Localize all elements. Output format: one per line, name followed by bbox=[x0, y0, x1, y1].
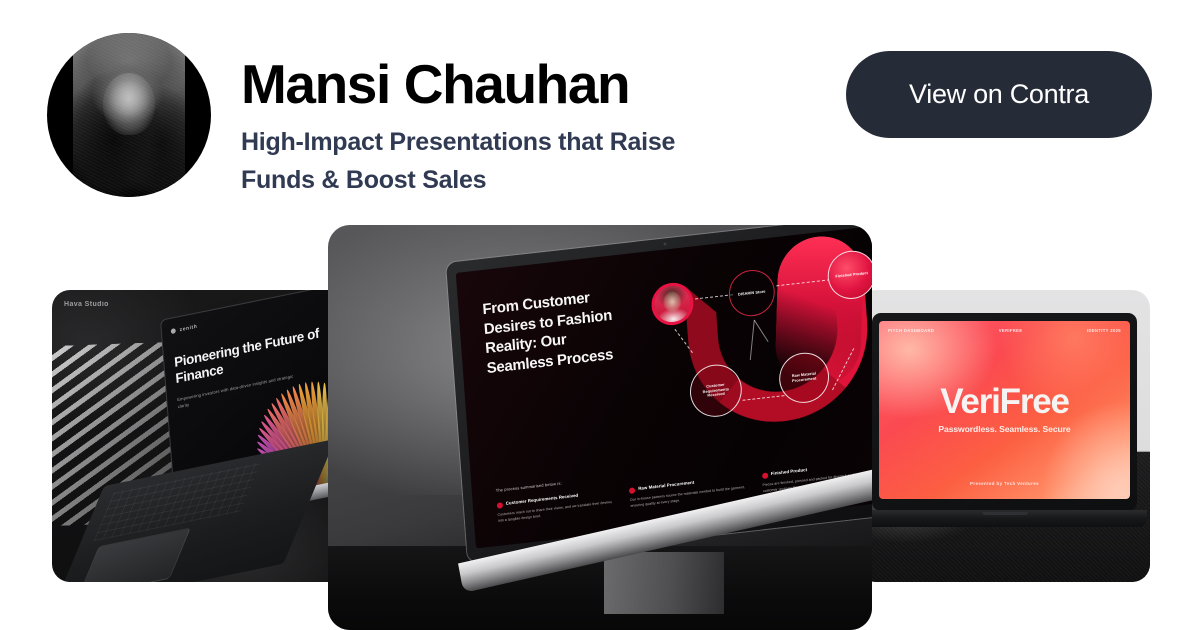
bullet-icon bbox=[762, 472, 768, 479]
project-card-left[interactable]: Hava Studio zenith Contact Pioneering th… bbox=[52, 290, 352, 582]
left-laptop-trackpad bbox=[78, 528, 191, 582]
profile-header: Mansi Chauhan High-Impact Presentations … bbox=[0, 0, 1200, 230]
bullet-icon bbox=[497, 502, 503, 509]
right-laptop-screen: PITCH DASHBOARD VERIFREE IDENTITY 2025 V… bbox=[879, 321, 1130, 499]
project-card-right[interactable]: PITCH DASHBOARD VERIFREE IDENTITY 2025 V… bbox=[858, 290, 1150, 582]
right-slide-top-center: VERIFREE bbox=[999, 328, 1023, 333]
avatar-face bbox=[103, 73, 155, 135]
right-slide-top-left: PITCH DASHBOARD bbox=[888, 328, 934, 333]
right-slide-center: VeriFree Passwordless. Seamless. Secure bbox=[879, 384, 1130, 434]
center-slide-caption: The process summarised below is: bbox=[496, 480, 562, 492]
right-slide-title: VeriFree bbox=[879, 384, 1130, 419]
right-laptop: PITCH DASHBOARD VERIFREE IDENTITY 2025 V… bbox=[872, 313, 1137, 511]
right-slide-footer: Presented by Tech Ventures bbox=[879, 481, 1130, 486]
contra-profile-card: Mansi Chauhan High-Impact Presentations … bbox=[0, 0, 1200, 630]
right-slide-top-right: IDENTITY 2025 bbox=[1087, 328, 1121, 333]
brand-mark-icon bbox=[171, 328, 176, 334]
left-slide-brand: zenith bbox=[179, 323, 197, 333]
webcam-icon bbox=[663, 242, 666, 245]
project-gallery: Hava Studio zenith Contact Pioneering th… bbox=[0, 225, 1200, 630]
center-slide-column: Customer Requirements Received Customers… bbox=[497, 489, 615, 524]
right-laptop-lid: PITCH DASHBOARD VERIFREE IDENTITY 2025 V… bbox=[872, 313, 1137, 511]
center-slide-title: From Customer Desires to Fashion Reality… bbox=[482, 284, 637, 379]
bullet-icon bbox=[629, 487, 635, 494]
right-laptop-notch bbox=[982, 512, 1028, 515]
studio-watermark: Hava Studio bbox=[64, 301, 109, 308]
identity-block: Mansi Chauhan High-Impact Presentations … bbox=[241, 55, 801, 199]
view-on-contra-button[interactable]: View on Contra bbox=[846, 51, 1152, 138]
right-laptop-base bbox=[862, 510, 1147, 527]
project-card-center[interactable]: From Customer Desires to Fashion Reality… bbox=[328, 225, 872, 630]
profile-tagline: High-Impact Presentations that Raise Fun… bbox=[241, 123, 731, 199]
avatar bbox=[47, 33, 211, 197]
right-slide-topbar: PITCH DASHBOARD VERIFREE IDENTITY 2025 bbox=[888, 328, 1121, 333]
column-heading: Finished Product bbox=[771, 467, 808, 476]
center-laptop: From Customer Desires to Fashion Reality… bbox=[446, 225, 872, 562]
page-title: Mansi Chauhan bbox=[241, 55, 801, 113]
view-on-contra-label: View on Contra bbox=[909, 79, 1089, 110]
right-slide-subtitle: Passwordless. Seamless. Secure bbox=[879, 424, 1130, 434]
center-card-desk-face bbox=[604, 552, 724, 614]
avatar-photo bbox=[73, 33, 185, 197]
process-diagram: DISARIN Store Finished Product Customer … bbox=[630, 232, 872, 461]
